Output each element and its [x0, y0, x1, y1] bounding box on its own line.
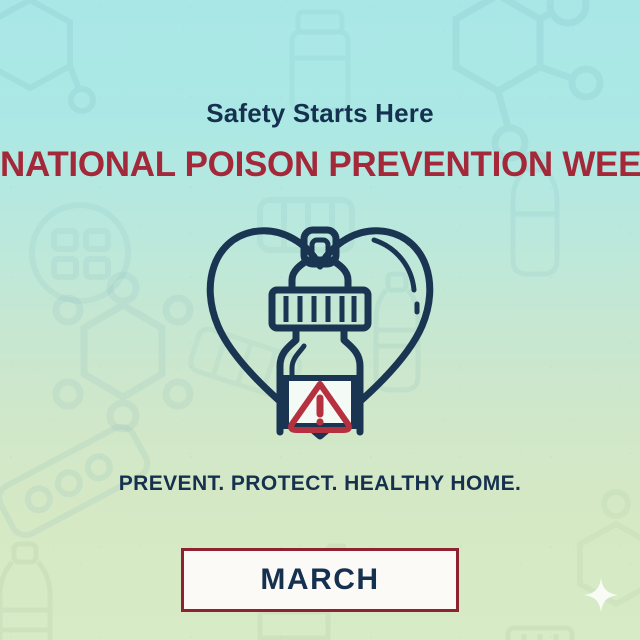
molecule-hexagon-watermark	[556, 486, 640, 636]
tagline-text: PREVENT. PROTECT. HEALTHY HOME.	[0, 472, 640, 496]
heart-shine-arc	[374, 240, 414, 290]
eyebrow-text: Safety Starts Here	[0, 98, 640, 129]
poster-canvas: Safety Starts Here NATIONAL POISON PREVE…	[0, 0, 640, 640]
molecule-hexagon-watermark	[28, 270, 218, 450]
page-title: NATIONAL POISON PREVENTION WEEK	[0, 145, 640, 185]
month-button[interactable]: MARCH	[181, 548, 459, 612]
pill-bottle-watermark	[492, 620, 588, 640]
bottle-cap-ribs	[286, 296, 354, 322]
blister-pack-watermark	[18, 195, 148, 315]
heart-with-poison-bottle-icon	[196, 218, 444, 446]
month-button-label: MARCH	[260, 563, 379, 597]
water-bottle-watermark	[0, 540, 66, 640]
sparkle-icon	[584, 578, 618, 612]
